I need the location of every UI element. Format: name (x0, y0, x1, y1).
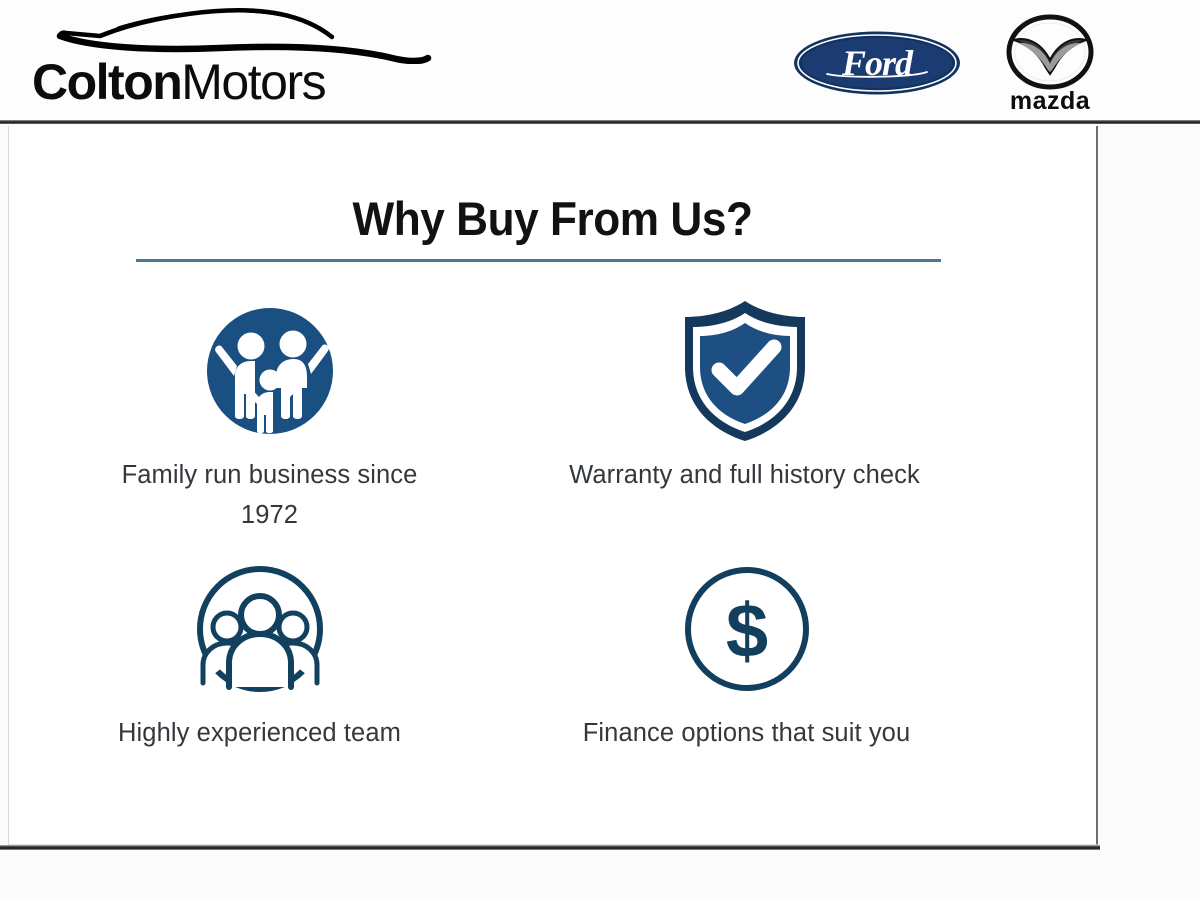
feature-label: Family run business since 1972 (90, 455, 450, 535)
feature-grid: Family run business since 1972 Warranty … (49, 301, 1059, 801)
feature-item-warranty: Warranty and full history check (492, 301, 997, 551)
footer-divider (0, 845, 1100, 850)
svg-text:mazda: mazda (1010, 87, 1091, 114)
shield-check-icon (675, 297, 815, 445)
feature-icon-wrap (675, 301, 815, 441)
header-divider (0, 120, 1200, 124)
slide-page: ColtonMotors Ford mazda Why Buy From Us? (0, 0, 1200, 900)
svg-text:$: $ (725, 589, 767, 674)
feature-icon-wrap (203, 301, 337, 441)
feature-icon-wrap: $ (680, 559, 814, 699)
feature-label: Highly experienced team (118, 713, 401, 753)
feature-item-finance: $ Finance options that suit you (494, 559, 999, 809)
brand-wordmark: ColtonMotors (32, 54, 325, 110)
ford-oval-logo[interactable]: Ford (793, 30, 961, 96)
page-title: Why Buy From Us? (42, 191, 1064, 246)
colton-motors-logo[interactable]: ColtonMotors (22, 4, 442, 116)
feature-item-team: Highly experienced team (7, 559, 512, 809)
team-circle-icon (193, 562, 327, 696)
feature-item-family: Family run business since 1972 (17, 301, 522, 551)
header-bar: ColtonMotors Ford mazda (0, 0, 1200, 122)
brand-word-motors: Motors (181, 54, 325, 110)
content-panel: Why Buy From Us? (8, 126, 1098, 845)
brand-word-colton: Colton (32, 54, 181, 110)
dollar-circle-icon: $ (680, 562, 814, 696)
feature-icon-wrap (193, 559, 327, 699)
title-divider (136, 259, 941, 262)
mazda-logo[interactable]: mazda (988, 14, 1112, 114)
feature-label: Warranty and full history check (569, 455, 920, 495)
feature-label: Finance options that suit you (583, 713, 911, 753)
family-circle-icon (203, 304, 337, 438)
